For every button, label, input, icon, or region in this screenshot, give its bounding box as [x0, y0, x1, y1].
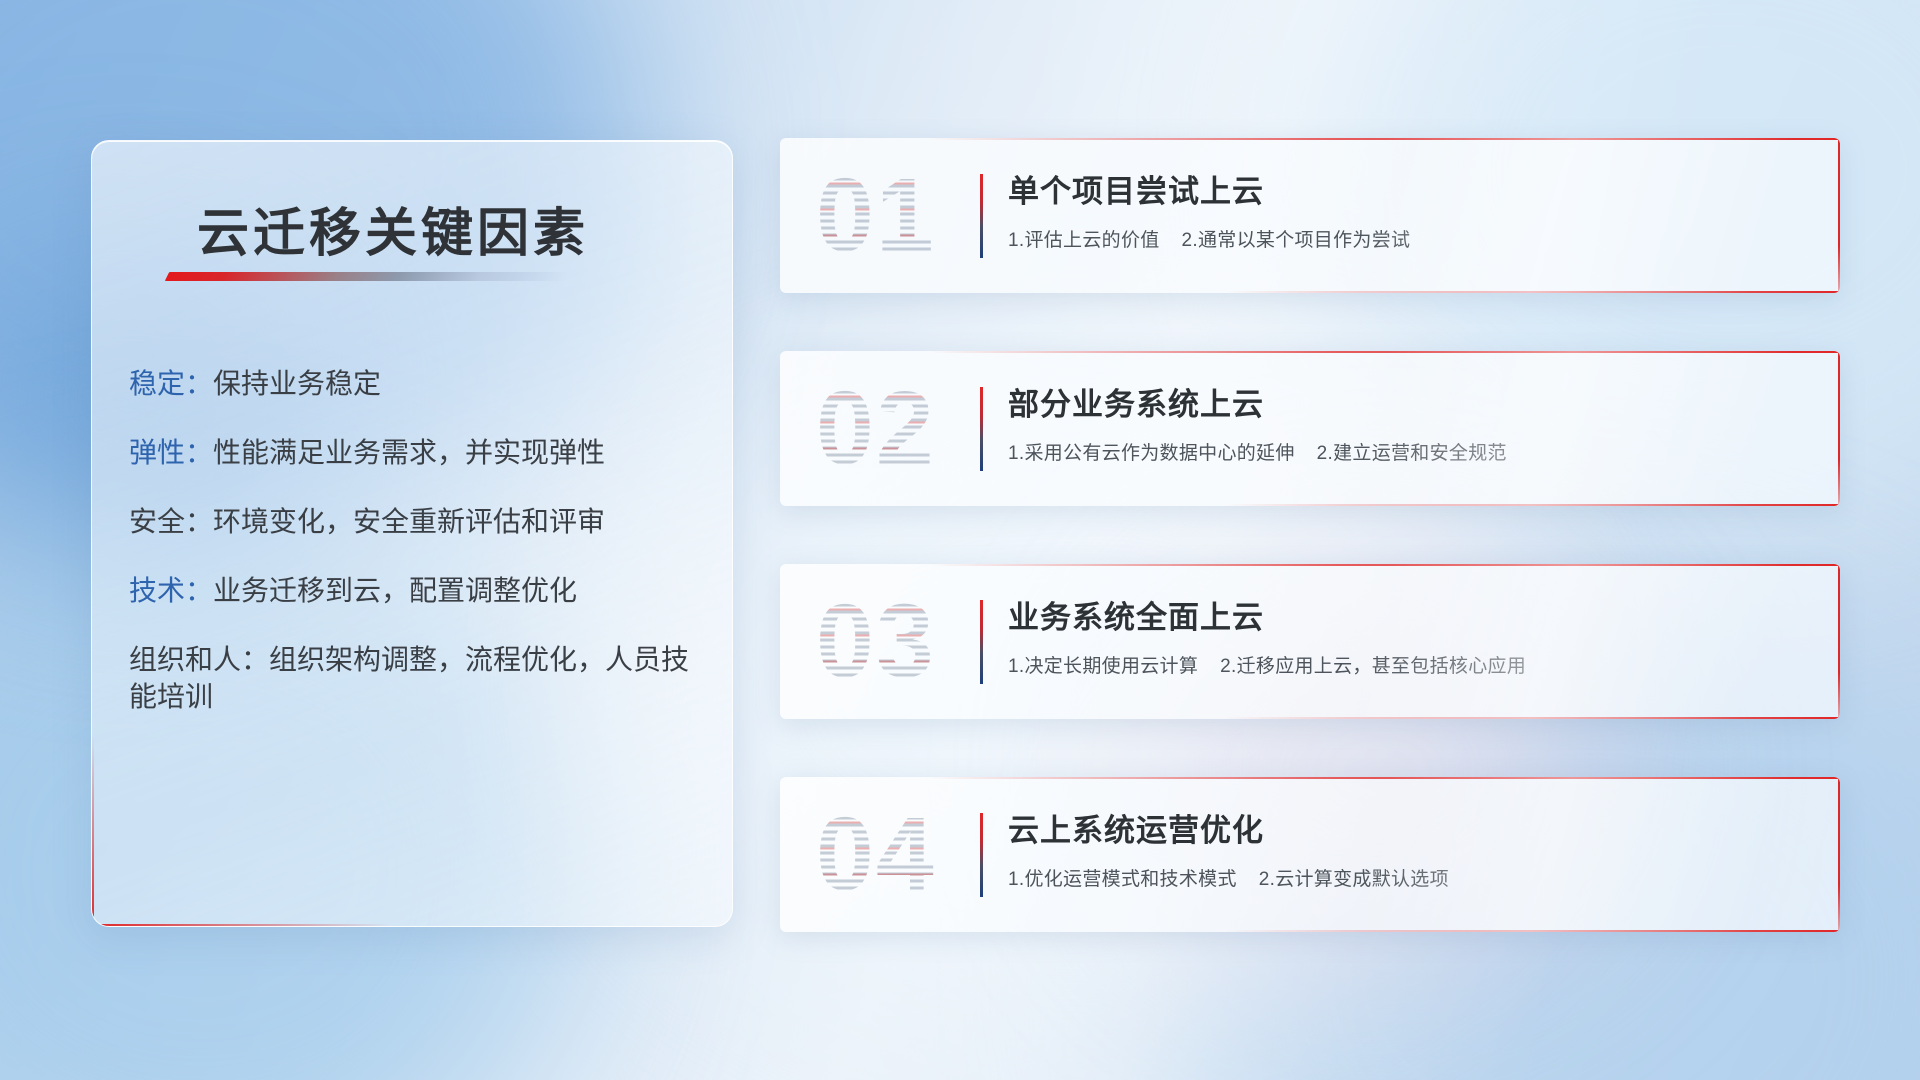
card-title: 部分业务系统上云 — [1008, 379, 1800, 424]
card-accent-bar — [980, 174, 983, 258]
card-text-block: 业务系统全面上云 1.决定长期使用云计算2.迁移应用上云，甚至包括核心应用 — [1008, 592, 1800, 678]
card-point: 1.评估上云的价值 — [1008, 230, 1160, 251]
card-bottom-accent-line — [1225, 930, 1840, 932]
card-top-accent-line — [928, 777, 1840, 779]
stage-card[interactable]: 03 03 业务系统全面上云 1.决定长期使用云计算2.迁移应用上云，甚至包括核… — [780, 564, 1840, 719]
card-point: 1.优化运营模式和技术模式 — [1008, 869, 1237, 890]
card-point: 1.决定长期使用云计算 — [1008, 656, 1198, 677]
slide-stage: 云迁移关键因素 稳定：保持业务稳定 弹性：性能满足业务需求，并实现弹性 安全：环… — [0, 0, 1920, 1080]
list-item: 稳定：保持业务稳定 — [129, 366, 708, 403]
title-underline-rule — [165, 272, 569, 281]
stage-number-ghost: 03 — [816, 582, 936, 701]
card-point: 1.采用公有云作为数据中心的延伸 — [1008, 443, 1295, 464]
list-item: 组织和人：组织架构调整，流程优化，人员技能培训 — [129, 642, 708, 716]
card-bottom-accent-line — [1225, 504, 1840, 506]
stage-card[interactable]: 02 02 部分业务系统上云 1.采用公有云作为数据中心的延伸2.建立运营和安全… — [780, 351, 1840, 506]
list-item-label: 安全： — [129, 506, 213, 537]
list-item-label: 稳定： — [129, 368, 213, 399]
stage-number-ghost: 01 — [816, 156, 936, 275]
card-point: 2.通常以某个项目作为尝试 — [1182, 230, 1411, 251]
card-text-block: 部分业务系统上云 1.采用公有云作为数据中心的延伸2.建立运营和安全规范 — [1008, 379, 1800, 465]
stage-card[interactable]: 01 01 单个项目尝试上云 1.评估上云的价值2.通常以某个项目作为尝试 — [780, 138, 1840, 293]
list-item-label: 组织和人： — [129, 644, 269, 675]
list-item-value: 保持业务稳定 — [213, 368, 381, 399]
card-title: 单个项目尝试上云 — [1008, 166, 1800, 211]
key-factors-list: 稳定：保持业务稳定 弹性：性能满足业务需求，并实现弹性 安全：环境变化，安全重新… — [129, 366, 708, 748]
key-factors-panel: 云迁移关键因素 稳定：保持业务稳定 弹性：性能满足业务需求，并实现弹性 安全：环… — [91, 140, 733, 927]
card-point: 2.迁移应用上云，甚至包括核心应用 — [1220, 656, 1526, 677]
card-title: 云上系统运营优化 — [1008, 805, 1800, 850]
page-title: 云迁移关键因素 — [197, 191, 589, 266]
card-right-accent-line — [1838, 777, 1840, 932]
list-item-value: 业务迁移到云，配置调整优化 — [213, 575, 577, 606]
card-subtitle: 1.决定长期使用云计算2.迁移应用上云，甚至包括核心应用 — [1008, 651, 1800, 678]
card-bottom-accent-line — [1225, 291, 1840, 293]
list-item-value: 环境变化，安全重新评估和评审 — [213, 506, 605, 537]
card-accent-bar — [980, 600, 983, 684]
card-accent-bar — [980, 813, 983, 897]
list-item: 技术：业务迁移到云，配置调整优化 — [129, 573, 708, 610]
card-point: 2.云计算变成默认选项 — [1259, 869, 1449, 890]
card-right-accent-line — [1838, 138, 1840, 293]
card-top-accent-line — [928, 138, 1840, 140]
panel-left-accent-edge — [92, 736, 94, 926]
card-subtitle: 1.优化运营模式和技术模式2.云计算变成默认选项 — [1008, 864, 1800, 891]
card-subtitle: 1.评估上云的价值2.通常以某个项目作为尝试 — [1008, 225, 1800, 252]
card-subtitle: 1.采用公有云作为数据中心的延伸2.建立运营和安全规范 — [1008, 438, 1800, 465]
card-top-accent-line — [928, 351, 1840, 353]
card-point: 2.建立运营和安全规范 — [1317, 443, 1507, 464]
panel-bottom-accent-edge — [92, 924, 392, 926]
card-top-accent-line — [928, 564, 1840, 566]
card-text-block: 单个项目尝试上云 1.评估上云的价值2.通常以某个项目作为尝试 — [1008, 166, 1800, 252]
list-item-value: 性能满足业务需求，并实现弹性 — [213, 437, 605, 468]
card-title: 业务系统全面上云 — [1008, 592, 1800, 637]
card-right-accent-line — [1838, 564, 1840, 719]
stage-card-list: 01 01 单个项目尝试上云 1.评估上云的价值2.通常以某个项目作为尝试 02… — [780, 138, 1840, 990]
stage-number-ghost: 04 — [816, 795, 936, 914]
card-right-accent-line — [1838, 351, 1840, 506]
list-item-label: 技术： — [129, 575, 213, 606]
card-bottom-accent-line — [1225, 717, 1840, 719]
stage-number-ghost: 02 — [816, 369, 936, 488]
card-accent-bar — [980, 387, 983, 471]
list-item-label: 弹性： — [129, 437, 213, 468]
card-text-block: 云上系统运营优化 1.优化运营模式和技术模式2.云计算变成默认选项 — [1008, 805, 1800, 891]
list-item: 弹性：性能满足业务需求，并实现弹性 — [129, 435, 708, 472]
stage-card[interactable]: 04 04 云上系统运营优化 1.优化运营模式和技术模式2.云计算变成默认选项 — [780, 777, 1840, 932]
list-item: 安全：环境变化，安全重新评估和评审 — [129, 504, 708, 541]
